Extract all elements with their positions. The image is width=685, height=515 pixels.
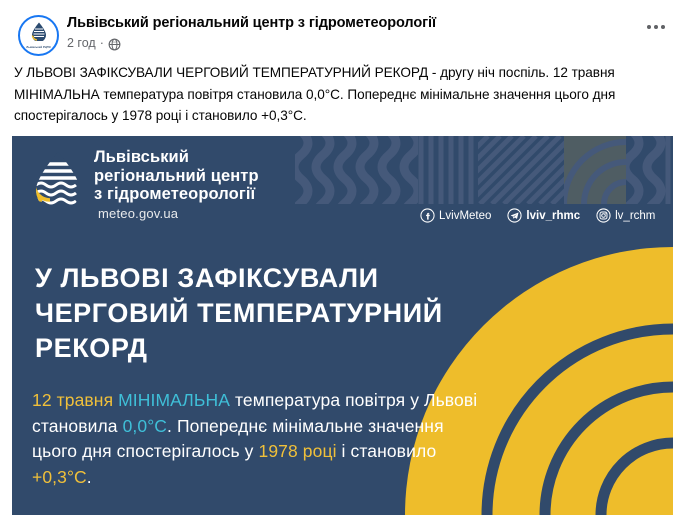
- pattern-zigzag-left: [295, 136, 418, 204]
- social-telegram-label: lviv_rhmc: [526, 210, 580, 222]
- pattern-vertical-lines: [418, 136, 478, 204]
- banner-logo-line-1: Львівський: [94, 148, 259, 167]
- avatar[interactable]: Львівський РЦГМ: [18, 15, 59, 56]
- menu-dot: [647, 25, 651, 29]
- banner-body-text-3: і становило: [337, 441, 437, 461]
- banner-body-date: 12 травня: [32, 390, 113, 410]
- more-options-icon[interactable]: [647, 25, 665, 29]
- page-name[interactable]: Львівський регіональний центр з гідромет…: [67, 15, 436, 31]
- droplet-mountain-logo-icon: [32, 150, 84, 208]
- social-instagram[interactable]: lv_rchm: [596, 208, 655, 223]
- avatar-caption: Львівський РЦГМ: [20, 46, 57, 49]
- banner-body-text: 12 травня МІНІМАЛЬНА температура повітря…: [32, 388, 482, 490]
- banner-logo: Львівський регіональний центр з гідромет…: [32, 148, 294, 223]
- avatar-logo-icon: [31, 22, 47, 41]
- post-text: У ЛЬВОВІ ЗАФІКСУВАЛИ ЧЕРГОВИЙ ТЕМПЕРАТУР…: [14, 62, 659, 127]
- post-meta: 2 год ·: [67, 36, 121, 50]
- menu-dot: [661, 25, 665, 29]
- instagram-icon: [596, 208, 611, 223]
- facebook-icon: [420, 208, 435, 223]
- globe-icon[interactable]: [108, 38, 121, 51]
- banner-logo-line-2: регіональний центр: [94, 167, 259, 186]
- pattern-zigzag-right: [626, 136, 673, 204]
- banner-body-temp-current: 0,0°C: [123, 416, 167, 436]
- banner-logo-url: meteo.gov.ua: [98, 206, 178, 221]
- banner-logo-text: Львівський регіональний центр з гідромет…: [94, 148, 259, 204]
- banner-body-temp-previous: +0,3°C: [32, 467, 87, 487]
- menu-dot: [654, 25, 658, 29]
- telegram-icon: [507, 208, 522, 223]
- social-facebook[interactable]: LvivMeteo: [420, 208, 491, 223]
- banner-body-period: .: [87, 467, 92, 487]
- post-image-banner[interactable]: Львівський регіональний центр з гідромет…: [12, 136, 673, 515]
- social-facebook-label: LvivMeteo: [439, 210, 491, 222]
- pattern-diagonal-lines: [478, 136, 564, 204]
- banner-body-year: 1978 році: [258, 441, 336, 461]
- social-telegram[interactable]: lviv_rhmc: [507, 208, 580, 223]
- post-timestamp[interactable]: 2 год: [67, 36, 96, 50]
- banner-headline: У ЛЬВОВІ ЗАФІКСУВАЛИ ЧЕРГОВИЙ ТЕМПЕРАТУР…: [35, 261, 495, 366]
- social-handles-row: LvivMeteo lviv_rhmc lv_rchm: [420, 208, 655, 223]
- post-header: Львівський РЦГМ Львівський регіональний …: [0, 0, 685, 62]
- pattern-concentric-arcs: [564, 136, 626, 204]
- meta-separator: ·: [100, 36, 104, 50]
- decorative-pattern-strip: [295, 136, 673, 204]
- banner-body-minimal-word: МІНІМАЛЬНА: [118, 390, 230, 410]
- banner-logo-line-3: з гідрометеорології: [94, 185, 259, 204]
- social-instagram-label: lv_rchm: [615, 210, 655, 222]
